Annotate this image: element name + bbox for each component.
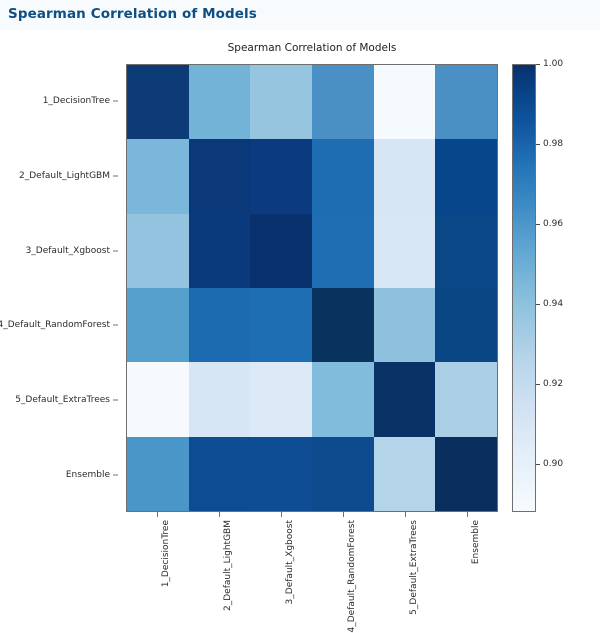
heatmap-cell[interactable] xyxy=(127,139,189,213)
x-axis-labels: 1_DecisionTree2_Default_LightGBM3_Defaul… xyxy=(126,512,498,613)
heatmap-cell[interactable] xyxy=(189,214,251,288)
colorbar-tick-mark xyxy=(536,144,540,145)
colorbar-gradient xyxy=(512,64,536,512)
heatmap-cell[interactable] xyxy=(312,65,374,139)
heatmap-cell[interactable] xyxy=(250,214,312,288)
x-tick-mark xyxy=(343,512,344,517)
colorbar: 1.000.980.960.940.920.90 xyxy=(512,64,536,512)
y-tick-label: 4_Default_RandomForest xyxy=(0,320,110,330)
heatmap-cell[interactable] xyxy=(189,288,251,362)
colorbar-tick-mark xyxy=(536,384,540,385)
colorbar-tick-mark xyxy=(536,464,540,465)
heatmap-cell[interactable] xyxy=(250,437,312,511)
heatmap-cell[interactable] xyxy=(250,139,312,213)
heatmap-cell[interactable] xyxy=(312,139,374,213)
y-tick-label: 3_Default_Xgboost xyxy=(26,246,110,256)
x-tick-label: 3_Default_Xgboost xyxy=(285,520,295,604)
x-tick-mark xyxy=(157,512,158,517)
heatmap-cell[interactable] xyxy=(189,65,251,139)
y-tick-mark xyxy=(113,250,118,251)
heatmap-cell[interactable] xyxy=(189,139,251,213)
colorbar-tick-mark xyxy=(536,64,540,65)
heatmap-cell[interactable] xyxy=(127,214,189,288)
x-tick-label: 5_Default_ExtraTrees xyxy=(409,520,419,615)
colorbar-tick-label: 1.00 xyxy=(543,59,563,69)
heatmap-cell[interactable] xyxy=(189,437,251,511)
chart-title: Spearman Correlation of Models xyxy=(126,42,498,54)
colorbar-tick-mark xyxy=(536,304,540,305)
y-tick-mark xyxy=(113,325,118,326)
heatmap-cell[interactable] xyxy=(250,288,312,362)
heatmap-cell[interactable] xyxy=(374,139,436,213)
heatmap-cell[interactable] xyxy=(435,139,497,213)
colorbar-tick-label: 0.92 xyxy=(543,379,563,389)
heatmap-cell[interactable] xyxy=(374,288,436,362)
heatmap-cell[interactable] xyxy=(312,437,374,511)
heatmap-cell[interactable] xyxy=(435,214,497,288)
page-banner: Spearman Correlation of Models xyxy=(0,0,600,31)
y-axis-labels: 1_DecisionTree2_Default_LightGBM3_Defaul… xyxy=(0,64,120,512)
heatmap-cell[interactable] xyxy=(127,65,189,139)
colorbar-tick-mark xyxy=(536,224,540,225)
heatmap-cell[interactable] xyxy=(312,362,374,436)
x-tick-label: 1_DecisionTree xyxy=(161,520,171,587)
heatmap-page: Spearman Correlation of Models Spearman … xyxy=(0,0,600,613)
y-tick-label: 1_DecisionTree xyxy=(43,96,110,106)
heatmap-cell[interactable] xyxy=(435,288,497,362)
heatmap-cell[interactable] xyxy=(435,65,497,139)
x-tick-mark xyxy=(467,512,468,517)
y-tick-mark xyxy=(113,400,118,401)
x-tick-label: Ensemble xyxy=(471,520,481,564)
heatmap-cell[interactable] xyxy=(127,362,189,436)
colorbar-tick-label: 0.94 xyxy=(543,299,563,309)
heatmap-grid xyxy=(127,65,497,511)
x-tick-mark xyxy=(405,512,406,517)
heatmap-cell[interactable] xyxy=(435,437,497,511)
heatmap-cell[interactable] xyxy=(374,362,436,436)
x-tick-mark xyxy=(219,512,220,517)
y-tick-label: 2_Default_LightGBM xyxy=(19,171,110,181)
y-tick-label: 5_Default_ExtraTrees xyxy=(15,395,110,405)
colorbar-tick-label: 0.98 xyxy=(543,139,563,149)
x-tick-label: 2_Default_LightGBM xyxy=(223,520,233,611)
figure-canvas: Spearman Correlation of Models 1_Decisio… xyxy=(0,30,600,613)
heatmap-cell[interactable] xyxy=(435,362,497,436)
y-tick-label: Ensemble xyxy=(66,470,110,480)
heatmap-cell[interactable] xyxy=(250,362,312,436)
y-tick-mark xyxy=(113,101,118,102)
heatmap-cell[interactable] xyxy=(312,214,374,288)
heatmap-cell[interactable] xyxy=(127,288,189,362)
colorbar-tick-label: 0.96 xyxy=(543,219,563,229)
heatmap-cell[interactable] xyxy=(127,437,189,511)
heatmap-cell[interactable] xyxy=(374,214,436,288)
y-tick-mark xyxy=(113,176,118,177)
page-title: Spearman Correlation of Models xyxy=(8,6,257,22)
heatmap-cell[interactable] xyxy=(312,288,374,362)
colorbar-tick-label: 0.90 xyxy=(543,459,563,469)
x-tick-mark xyxy=(281,512,282,517)
heatmap-axes xyxy=(126,64,498,512)
y-tick-mark xyxy=(113,474,118,475)
heatmap-cell[interactable] xyxy=(189,362,251,436)
x-tick-label: 4_Default_RandomForest xyxy=(347,520,357,633)
heatmap-cell[interactable] xyxy=(374,437,436,511)
heatmap-cell[interactable] xyxy=(250,65,312,139)
heatmap-cell[interactable] xyxy=(374,65,436,139)
